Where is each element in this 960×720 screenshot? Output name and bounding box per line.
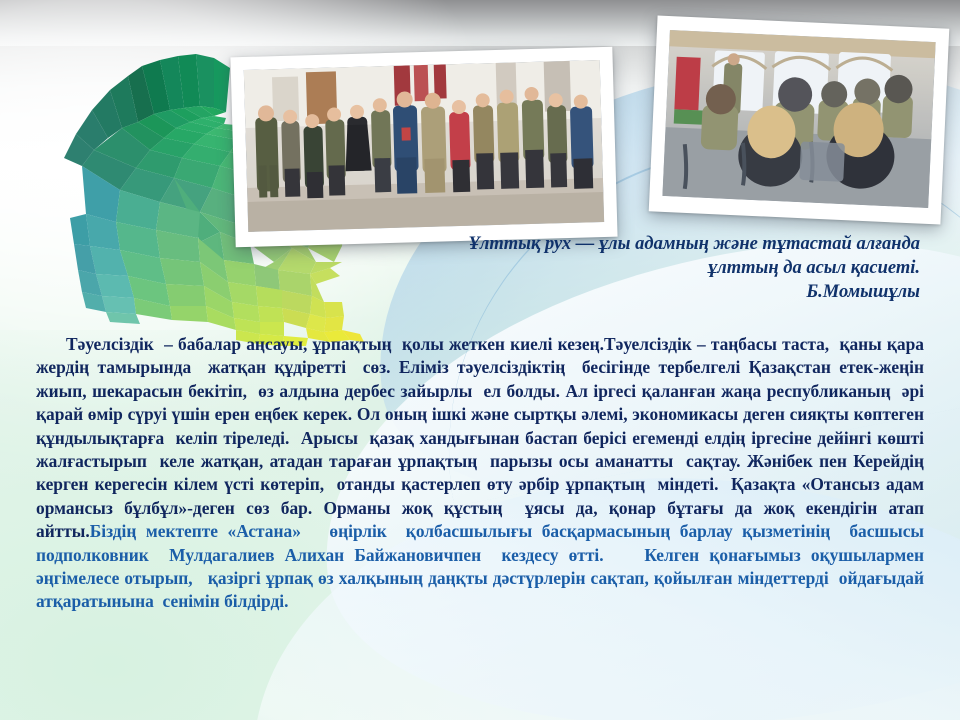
group-photo-students-with-officers[interactable] bbox=[230, 47, 617, 248]
quote-block: Ұлттық рух — ұлы адамның және тұтастай а… bbox=[395, 232, 920, 304]
slide-canvas: Ұлттық рух — ұлы адамның және тұтастай а… bbox=[0, 0, 960, 720]
photo-image-right bbox=[662, 30, 935, 208]
quote-line-1: Ұлттық рух — ұлы адамның және тұтастай а… bbox=[469, 234, 920, 254]
body-text-block: Тәуелсіздік – бабалар аңсауы, ұрпақтың қ… bbox=[36, 333, 924, 614]
body-paragraph-dark-text: Тәуелсіздік – бабалар аңсауы, ұрпақтың қ… bbox=[36, 334, 933, 541]
quote-author: Б.Момышұлы bbox=[395, 280, 920, 304]
body-paragraph-blue-text: Біздің мектепте «Астана» өңірлік қолбасш… bbox=[36, 521, 928, 611]
body-paragraph-dark: Тәуелсіздік – бабалар аңсауы, ұрпақтың қ… bbox=[36, 333, 924, 614]
photo-image-left bbox=[244, 60, 604, 232]
quote-line-2: ұлттың да асыл қасиеті. bbox=[708, 258, 920, 278]
audience-photo-meeting[interactable] bbox=[649, 15, 950, 224]
